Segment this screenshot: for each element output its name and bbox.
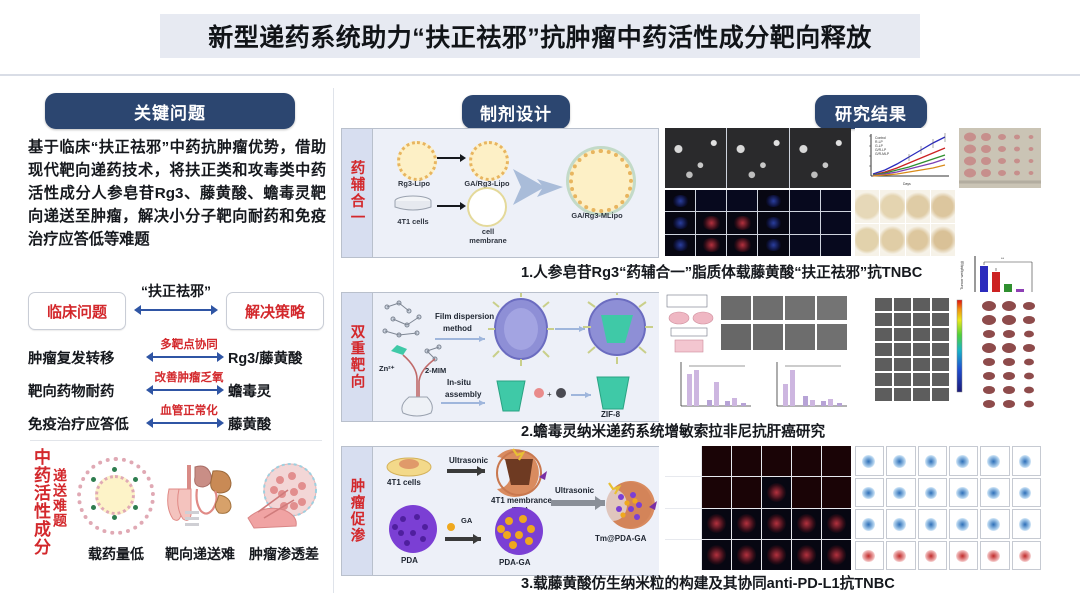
confocal-image [665, 235, 695, 256]
fluorescence-image [702, 446, 731, 476]
fluorescence-image [792, 540, 821, 570]
sem-micrograph-panel [665, 128, 851, 188]
in-vivo-imaging-and-organ-array [855, 292, 1041, 418]
schematic-label: Rg3-Lipo [383, 179, 445, 188]
challenge-caption: 载药量低 [74, 544, 158, 564]
challenge-items: 载药量低 靶向 [74, 450, 326, 564]
key-question-panel: 基于临床“扶正祛邪”中药抗肿瘤优势，借助现代靶向递药技术，将扶正类和攻毒类中药活… [20, 88, 328, 593]
tissue-photo [880, 190, 904, 223]
svg-text:2-MIM: 2-MIM [425, 366, 446, 375]
flow-plot [980, 478, 1009, 508]
rg3-lipo-particle-icon [397, 141, 437, 181]
tissue-photo [855, 224, 879, 257]
mapping-solution: 藤黄酸 [228, 413, 332, 434]
row-tab-label: 双重靶向 [347, 324, 368, 390]
organs-icon [158, 450, 242, 542]
fluorescence-image [702, 477, 731, 507]
fluorescence-image [732, 509, 761, 539]
row-tab-2: 双重靶向 [342, 293, 373, 421]
section-header-formulation: 制剂设计 [462, 95, 570, 129]
flow-plot [855, 541, 884, 571]
sem-image [790, 128, 851, 188]
flow-cytometry-panel-grid [855, 446, 1041, 570]
cell-membrane-vesicle-icon [467, 187, 507, 227]
fluorescence-image [702, 540, 731, 570]
svg-text:Ultrasonic: Ultrasonic [555, 486, 595, 495]
svg-text:G/R-MLP: G/R-MLP [875, 152, 890, 156]
fluorescence-image [792, 509, 821, 539]
sem-image [665, 128, 726, 188]
tissue-photo [855, 190, 879, 223]
confocal-image [696, 190, 726, 211]
mapping-problem: 免疫治疗应答低 [28, 413, 138, 434]
flow-plot [980, 541, 1009, 571]
confocal-image [665, 190, 695, 211]
svg-text:Zn²⁺: Zn²⁺ [379, 364, 395, 373]
confocal-image [790, 190, 820, 211]
row-tab-1: 药辅合一 [342, 129, 373, 257]
flow-plot [1012, 478, 1041, 508]
tissue-photo [931, 224, 955, 257]
ga-rg3-lipo-particle-icon [469, 141, 509, 181]
mapping-mechanism: 血管正常化 [146, 402, 232, 418]
formulation-card-3: 肿瘤促渗 4T1 cells Ultrasonic 4T1 membrance … [341, 446, 659, 576]
confocal-image [758, 212, 788, 233]
result-row-3: 肿瘤促渗 4T1 cells Ultrasonic 4T1 membrance … [341, 446, 1041, 593]
svg-text:In-situ: In-situ [447, 378, 471, 387]
tumor-volume-growth-curve: ControlR-LP G-LPG/R-LP G/R-MLP Days [855, 128, 955, 188]
ga-rg3-mlipo-particle-icon [569, 149, 633, 213]
svg-text:4T1 membrance: 4T1 membrance [491, 496, 552, 505]
confocal-image [790, 212, 820, 233]
confocal-image [821, 235, 851, 256]
svg-text:Ultrasonic: Ultrasonic [449, 456, 489, 465]
mechanism-schematic-and-spheroid-grid [665, 292, 851, 354]
result-row-1: 药辅合一 Rg3-Lipo GA/Rg3-Lipo 4T1 cells cell… [341, 128, 1041, 288]
fluorescence-image [732, 446, 761, 476]
mapping-problem: 靶向药物耐药 [28, 380, 138, 401]
flow-plot [918, 509, 947, 539]
slide-title-band: 新型递药系统助力“扶正祛邪”抗肿瘤中药活性成分靶向释放 [160, 14, 920, 58]
formulation-schematic-2: Film dispersion method Zn²⁺ 2-MIM In-sit… [373, 293, 659, 421]
challenge-item: 载药量低 [74, 450, 158, 564]
mapping-mechanism: 改善肿瘤乏氧 [146, 369, 232, 385]
tissue-photo [880, 224, 904, 257]
challenge-vertical-label-2: 递送难题 [50, 468, 70, 578]
confocal-image [696, 212, 726, 233]
fluorescence-image [732, 477, 761, 507]
svg-text:Tm@PDA-GA: Tm@PDA-GA [595, 534, 647, 543]
confocal-image [727, 235, 757, 256]
clinical-problem-box: 临床问题 [28, 292, 126, 330]
result-row-2: 双重靶向 [341, 292, 1041, 442]
challenge-caption: 靶向递送难 [158, 544, 242, 564]
excised-tumor-photo-array [959, 128, 1041, 188]
mapping-row: 免疫治疗应答低 血管正常化 藤黄酸 [28, 406, 324, 439]
strategy-mapping-header: “扶正祛邪” 临床问题 解决策略 [28, 284, 324, 338]
flow-plot [980, 509, 1009, 539]
flow-plot [1012, 446, 1041, 476]
flow-plot [886, 478, 915, 508]
svg-text:PDA: PDA [401, 556, 418, 565]
strategy-center-label: “扶正祛邪” [126, 281, 226, 301]
flow-plot [980, 446, 1009, 476]
fluorescence-image [792, 446, 821, 476]
merge-arrow-icon [511, 163, 567, 219]
schematic-label: 4T1 cells [383, 217, 443, 226]
mapping-arrow-icon [152, 422, 218, 424]
tissue-photo [931, 190, 955, 223]
confocal-image [696, 235, 726, 256]
flow-plot [855, 509, 884, 539]
confocal-image [821, 190, 851, 211]
row-tab-3: 肿瘤促渗 [342, 447, 373, 575]
fluorescence-image [762, 446, 791, 476]
tumor-tissue-photo-array [855, 190, 955, 256]
formulation-schematic-1: Rg3-Lipo GA/Rg3-Lipo 4T1 cells cell memb… [373, 129, 658, 257]
confocal-image [665, 212, 695, 233]
bidirectional-arrow-icon [140, 309, 212, 311]
row-caption-2: 2.蟾毒灵纳米递药系统增敏索拉非尼抗肝癌研究 [521, 420, 1041, 441]
fluorescence-image [822, 446, 851, 476]
flow-plot [886, 446, 915, 476]
schematic-arrow-icon [437, 205, 461, 207]
schematic-arrow-icon [437, 157, 461, 159]
flow-plot [949, 478, 978, 508]
mapping-solution: 蟾毒灵 [228, 380, 332, 401]
schematic-label: GA/Rg3-MLipo [561, 211, 633, 220]
tissue-photo [906, 224, 930, 257]
fluorescence-image [702, 509, 731, 539]
liposome-icon [74, 450, 158, 542]
confocal-image [727, 190, 757, 211]
fluorescence-image [762, 477, 791, 507]
column-separator [333, 88, 334, 593]
fluorescence-time-series-grid [665, 446, 851, 570]
svg-text:assembly: assembly [445, 390, 482, 399]
formulation-card-2: 双重靶向 [341, 292, 659, 422]
solution-strategy-box: 解决策略 [226, 292, 324, 330]
formulation-card-1: 药辅合一 Rg3-Lipo GA/Rg3-Lipo 4T1 cells cell… [341, 128, 659, 258]
key-question-body: 基于临床“扶正祛邪”中药抗肿瘤优势，借助现代靶向递药技术，将扶正类和攻毒类中药活… [28, 136, 326, 251]
flow-plot [949, 509, 978, 539]
confocal-image [758, 235, 788, 256]
tumor-icon [242, 450, 326, 542]
confocal-uptake-grid [665, 190, 851, 256]
confocal-image [821, 212, 851, 233]
flow-plot [855, 446, 884, 476]
page-title: 新型递药系统助力“扶正祛邪”抗肿瘤中药活性成分靶向释放 [208, 18, 872, 54]
confocal-image [790, 235, 820, 256]
svg-text:+: + [547, 390, 552, 399]
mapping-arrow-icon [152, 356, 218, 358]
row-tab-label: 药辅合一 [347, 160, 368, 226]
confocal-image [727, 212, 757, 233]
flow-plot [1012, 509, 1041, 539]
svg-text:GA: GA [461, 516, 473, 525]
row-tab-label: 肿瘤促渗 [347, 478, 368, 544]
row-caption-3: 3.载藤黄酸仿生纳米粒的构建及其协同anti-PD-L1抗TNBC [521, 572, 1041, 593]
formulation-schematic-3: 4T1 cells Ultrasonic 4T1 membrance (Tm) … [373, 447, 659, 575]
challenge-caption: 肿瘤渗透差 [242, 544, 326, 564]
delivery-challenges-block: 中药活性成分 递送难题 载药量低 [26, 446, 326, 586]
left-panel-divider [30, 440, 322, 441]
tissue-photo [906, 190, 930, 223]
mapping-arrow-icon [152, 389, 218, 391]
svg-text:Days: Days [903, 182, 911, 186]
flow-plot [886, 541, 915, 571]
fluorescence-image [762, 509, 791, 539]
problem-solution-mapping-list: 肿瘤复发转移 多靶点协同 Rg3/藤黄酸 靶向药物耐药 改善肿瘤乏氧 蟾毒灵 免… [28, 340, 324, 439]
flow-plot [949, 446, 978, 476]
flow-plot [949, 541, 978, 571]
fluorescence-image [732, 540, 761, 570]
svg-text:PDA-GA: PDA-GA [499, 558, 531, 567]
svg-text:ZIF-8: ZIF-8 [601, 410, 621, 419]
challenge-item: 靶向递送难 [158, 450, 242, 564]
fluorescence-image [822, 509, 851, 539]
sem-image [727, 128, 788, 188]
svg-text:Film dispersion: Film dispersion [435, 312, 494, 321]
flow-plot [918, 446, 947, 476]
schematic-label: cell membrane [465, 227, 511, 246]
flow-plot [918, 478, 947, 508]
confocal-image [758, 190, 788, 211]
flow-plot [918, 541, 947, 571]
mapping-solution: Rg3/藤黄酸 [228, 347, 332, 368]
cell-dish-icon [393, 195, 433, 215]
header-divider [0, 74, 1080, 76]
fluorescence-image [822, 477, 851, 507]
section-header-research-results: 研究结果 [815, 95, 927, 129]
fluorescence-image [822, 540, 851, 570]
row-caption-1: 1.人参皂苷Rg3“药辅合一”脂质体载藤黄酸“扶正祛邪”抗TNBC [521, 261, 1041, 282]
fluorescence-image [792, 477, 821, 507]
flow-plot [1012, 541, 1041, 571]
challenge-item: 肿瘤渗透差 [242, 450, 326, 564]
flow-plot [886, 509, 915, 539]
svg-text:4T1 cells: 4T1 cells [387, 478, 421, 487]
fluorescence-image [762, 540, 791, 570]
flow-plot [855, 478, 884, 508]
mapping-problem: 肿瘤复发转移 [28, 347, 138, 368]
svg-text:method: method [443, 324, 472, 333]
quantification-bar-charts [665, 356, 851, 418]
mapping-mechanism: 多靶点协同 [146, 336, 232, 352]
